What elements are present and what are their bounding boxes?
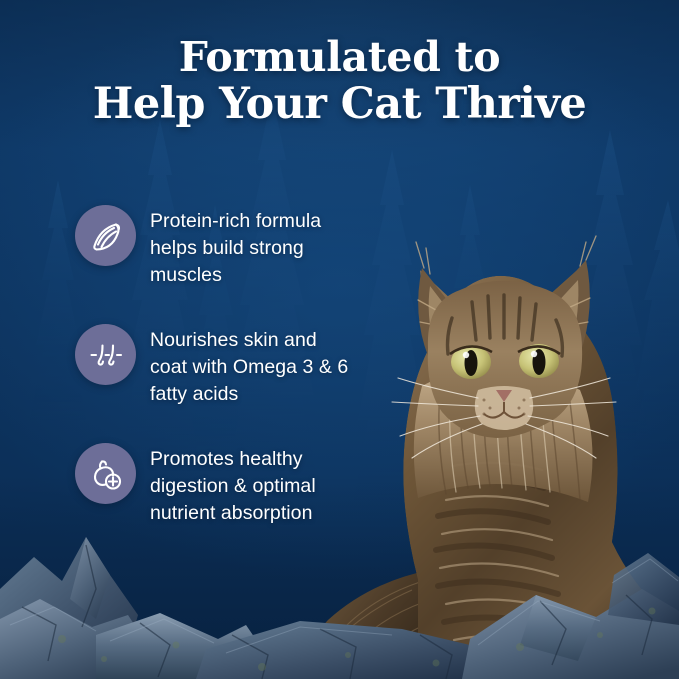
muscle-icon	[75, 205, 136, 266]
headline-line-1: Formulated to	[0, 34, 679, 81]
fur-strands-icon	[75, 324, 136, 385]
benefit-text-coat: Nourishes skin and coat with Omega 3 & 6…	[150, 324, 350, 408]
headline-line-2: Help Your Cat Thrive	[0, 81, 679, 128]
headline: Formulated to Help Your Cat Thrive	[0, 34, 679, 128]
benefit-item-protein: Protein-rich formula helps build strong …	[75, 205, 350, 289]
cat-food-promo-card: Formulated to Help Your Cat Thrive Prote…	[0, 0, 679, 679]
benefit-text-protein: Protein-rich formula helps build strong …	[150, 205, 350, 289]
benefit-item-coat: Nourishes skin and coat with Omega 3 & 6…	[75, 324, 350, 408]
rocky-foreground	[0, 449, 679, 679]
